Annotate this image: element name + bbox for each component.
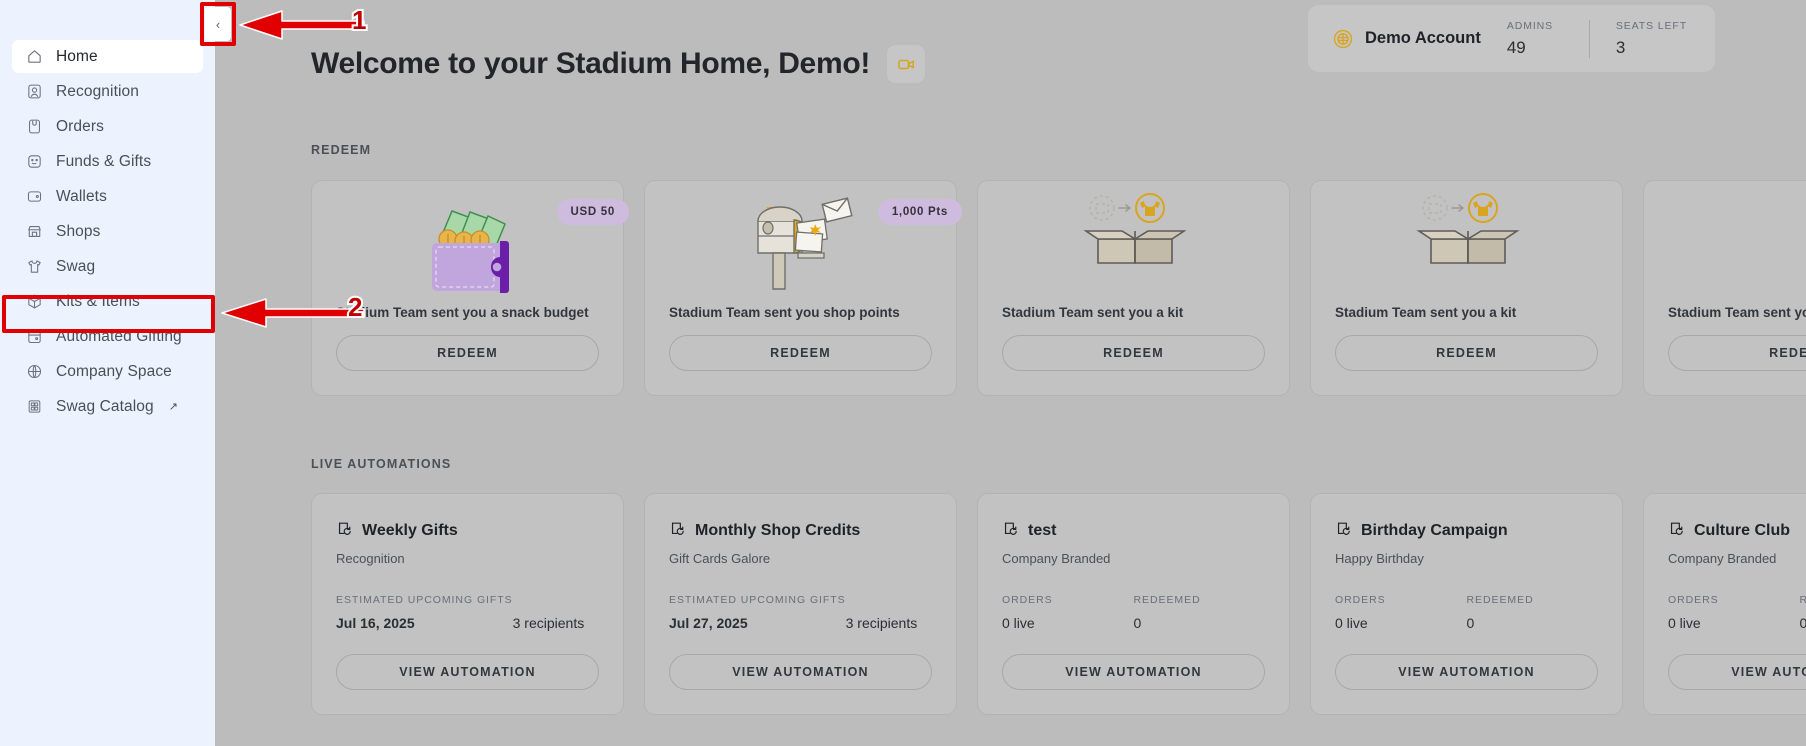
- redeem-card[interactable]: Stadium Team sent you a kit REDEEM: [1643, 180, 1806, 396]
- page-title: Welcome to your Stadium Home, Demo!: [311, 44, 870, 84]
- automation-subtitle: Company Branded: [1668, 551, 1806, 566]
- view-automation-button[interactable]: VIEW AUTOMATION: [1002, 654, 1265, 690]
- stat-seats-left: SEATS LEFT 3: [1616, 20, 1687, 58]
- main-content: Welcome to your Stadium Home, Demo! Demo…: [215, 0, 1806, 746]
- tshirt-icon: [26, 258, 43, 275]
- redeem-card-badge: 1,000 Pts: [878, 199, 962, 225]
- metric-label: ESTIMATED UPCOMING GIFTS: [336, 594, 513, 606]
- metric-value: 3 recipients: [846, 615, 978, 631]
- automation-name: Weekly Gifts: [362, 522, 458, 540]
- sidebar-item-company-space[interactable]: Company Space: [12, 355, 203, 388]
- metric-label: ORDERS: [1002, 594, 1134, 606]
- automation-name: Birthday Campaign: [1361, 522, 1508, 540]
- sidebar-item-recognition[interactable]: Recognition: [12, 75, 203, 108]
- automation-subtitle: Company Branded: [1002, 551, 1265, 566]
- sidebar-item-label: Funds & Gifts: [56, 153, 151, 171]
- automation-name: Culture Club: [1694, 522, 1790, 540]
- redeem-card[interactable]: Stadium Team sent you a kit REDEEM: [977, 180, 1290, 396]
- sidebar-item-label: Recognition: [56, 83, 139, 101]
- sidebar-item-label: Company Space: [56, 363, 172, 381]
- metric-label: REDEEMED: [1134, 594, 1266, 606]
- automation-card[interactable]: Monthly Shop Credits Gift Cards Galore E…: [644, 493, 957, 715]
- external-link-icon: ↗: [169, 400, 178, 413]
- automation-recurring-icon: [669, 520, 686, 542]
- automation-metric-orders: ORDERS 0 live: [1668, 594, 1800, 631]
- redeem-card-title: Stadium Team sent you a kit: [1668, 305, 1806, 320]
- calendar-icon: [26, 328, 43, 345]
- metric-label: ORDERS: [1668, 594, 1800, 606]
- automation-metric-orders: ORDERS 0 live: [1002, 594, 1134, 631]
- stat-value: 49: [1507, 38, 1563, 58]
- wallet-icon: [26, 188, 43, 205]
- automation-recurring-icon: [1002, 520, 1019, 542]
- redeem-button[interactable]: REDEEM: [1002, 335, 1265, 371]
- sidebar-item-label: Orders: [56, 118, 104, 136]
- redeem-card-rail: USD 50 Stadium Team sent you a snack bud…: [311, 180, 1806, 396]
- automation-card[interactable]: Birthday Campaign Happy Birthday ORDERS …: [1310, 493, 1623, 715]
- metric-value: 0 live: [1668, 615, 1800, 631]
- metric-value: 3 recipients: [513, 615, 645, 631]
- automation-metric: ESTIMATED UPCOMING GIFTS Jul 16, 2025: [336, 594, 513, 631]
- metric-label: ORDERS: [1335, 594, 1467, 606]
- redeem-card-title: Stadium Team sent you a kit: [1002, 305, 1265, 320]
- automation-metric-redeemed: REDEEMED 0: [1134, 594, 1266, 631]
- sidebar-item-automated-gifting[interactable]: Automated Gifting: [12, 320, 203, 353]
- metric-value: 0: [1800, 615, 1806, 631]
- automation-metric-recipients: 3 recipients: [846, 594, 978, 631]
- sidebar-item-wallets[interactable]: Wallets: [12, 180, 203, 213]
- redeem-card-title: Stadium Team sent you a snack budget: [336, 305, 599, 320]
- shop-icon: [26, 223, 43, 240]
- redeem-button[interactable]: REDEEM: [1335, 335, 1598, 371]
- sidebar-item-label: Shops: [56, 223, 100, 241]
- app-root: Home Recognition Orders Funds & Gifts Wa: [0, 0, 1806, 746]
- stat-value: 3: [1616, 38, 1687, 58]
- sidebar-item-funds-gifts[interactable]: Funds & Gifts: [12, 145, 203, 178]
- automation-subtitle: Happy Birthday: [1335, 551, 1598, 566]
- account-summary-panel[interactable]: Demo Account ADMINS 49 SEATS LEFT 3: [1308, 5, 1715, 72]
- redeem-button[interactable]: REDEEM: [1668, 335, 1806, 371]
- funds-gifts-icon: [26, 153, 43, 170]
- metric-label: ESTIMATED UPCOMING GIFTS: [669, 594, 846, 606]
- automation-name: test: [1028, 522, 1056, 540]
- video-camera-icon[interactable]: [887, 45, 925, 83]
- view-automation-button[interactable]: VIEW AUTOMATION: [336, 654, 599, 690]
- metric-value: 0 live: [1002, 615, 1134, 631]
- redeem-card[interactable]: USD 50 Stadium Team sent you a snack bud…: [311, 180, 624, 396]
- stat-label: SEATS LEFT: [1616, 20, 1687, 32]
- redeem-card-badge: USD 50: [557, 199, 629, 225]
- automation-card[interactable]: test Company Branded ORDERS 0 live REDEE…: [977, 493, 1290, 715]
- view-automation-button[interactable]: VIEW AUTOMATION: [669, 654, 932, 690]
- automation-metric: ESTIMATED UPCOMING GIFTS Jul 27, 2025: [669, 594, 846, 631]
- metric-value: 0: [1134, 615, 1266, 631]
- home-icon: [26, 48, 43, 65]
- automation-metric-orders: ORDERS 0 live: [1335, 594, 1467, 631]
- coin-icon: [1332, 28, 1354, 50]
- automation-recurring-icon: [336, 520, 353, 542]
- metric-value: Jul 16, 2025: [336, 615, 513, 631]
- section-label-redeem: REDEEM: [311, 143, 371, 157]
- sidebar-collapse-button[interactable]: ‹: [205, 7, 231, 41]
- stat-admins: ADMINS 49: [1507, 20, 1563, 58]
- metric-label: REDEEMED: [1800, 594, 1806, 606]
- metric-value: 0 live: [1335, 615, 1467, 631]
- automation-metric-redeemed: REDEEMED 0: [1467, 594, 1599, 631]
- section-label-live-automations: LIVE AUTOMATIONS: [311, 457, 451, 471]
- open-box-art: [1335, 187, 1598, 303]
- sidebar-item-kits-items[interactable]: Kits & Items: [12, 285, 203, 318]
- sidebar-item-home[interactable]: Home: [12, 40, 203, 73]
- globe-icon: [26, 363, 43, 380]
- automation-recurring-icon: [1335, 520, 1352, 542]
- view-automation-button[interactable]: VIEW AUTOMATION: [1335, 654, 1598, 690]
- metric-label: REDEEMED: [1467, 594, 1599, 606]
- automation-subtitle: Gift Cards Galore: [669, 551, 932, 566]
- automation-metric-recipients: 3 recipients: [513, 594, 645, 631]
- metric-value: Jul 27, 2025: [669, 615, 846, 631]
- sidebar-item-label: Kits & Items: [56, 293, 140, 311]
- account-name: Demo Account: [1365, 29, 1481, 48]
- view-automation-button[interactable]: VIEW AUTOMATION: [1668, 654, 1806, 690]
- divider: [1589, 20, 1590, 58]
- sidebar-item-swag[interactable]: Swag: [12, 250, 203, 283]
- redeem-card-title: Stadium Team sent you a kit: [1335, 305, 1598, 320]
- redeem-card[interactable]: Stadium Team sent you a kit REDEEM: [1310, 180, 1623, 396]
- catalog-icon: [26, 398, 43, 415]
- redeem-card[interactable]: 1,000 Pts Stadium Team sent you shop poi…: [644, 180, 957, 396]
- automation-recurring-icon: [1668, 520, 1685, 542]
- redeem-button[interactable]: REDEEM: [669, 335, 932, 371]
- recognition-icon: [26, 83, 43, 100]
- sidebar-item-orders[interactable]: Orders: [12, 110, 203, 143]
- metric-value: 0: [1467, 615, 1599, 631]
- automation-metric-redeemed: REDEEMED 0: [1800, 594, 1806, 631]
- sidebar-item-label: Swag: [56, 258, 95, 276]
- sidebar-item-swag-catalog[interactable]: Swag Catalog ↗: [12, 390, 203, 423]
- sidebar: Home Recognition Orders Funds & Gifts Wa: [0, 0, 215, 746]
- sidebar-item-label: Swag Catalog: [56, 398, 154, 416]
- open-box-art: [1668, 187, 1806, 303]
- automation-subtitle: Recognition: [336, 551, 599, 566]
- box-icon: [26, 293, 43, 310]
- redeem-card-title: Stadium Team sent you shop points: [669, 305, 932, 320]
- sidebar-item-label: Wallets: [56, 188, 107, 206]
- stat-label: ADMINS: [1507, 20, 1563, 32]
- open-box-art: [1002, 187, 1265, 303]
- sidebar-item-label: Automated Gifting: [56, 328, 182, 346]
- sidebar-item-shops[interactable]: Shops: [12, 215, 203, 248]
- orders-icon: [26, 118, 43, 135]
- automation-card-rail: Weekly Gifts Recognition ESTIMATED UPCOM…: [311, 493, 1806, 715]
- automation-name: Monthly Shop Credits: [695, 522, 860, 540]
- automation-card[interactable]: Weekly Gifts Recognition ESTIMATED UPCOM…: [311, 493, 624, 715]
- sidebar-item-label: Home: [56, 48, 98, 66]
- automation-card[interactable]: Culture Club Company Branded ORDERS 0 li…: [1643, 493, 1806, 715]
- redeem-button[interactable]: REDEEM: [336, 335, 599, 371]
